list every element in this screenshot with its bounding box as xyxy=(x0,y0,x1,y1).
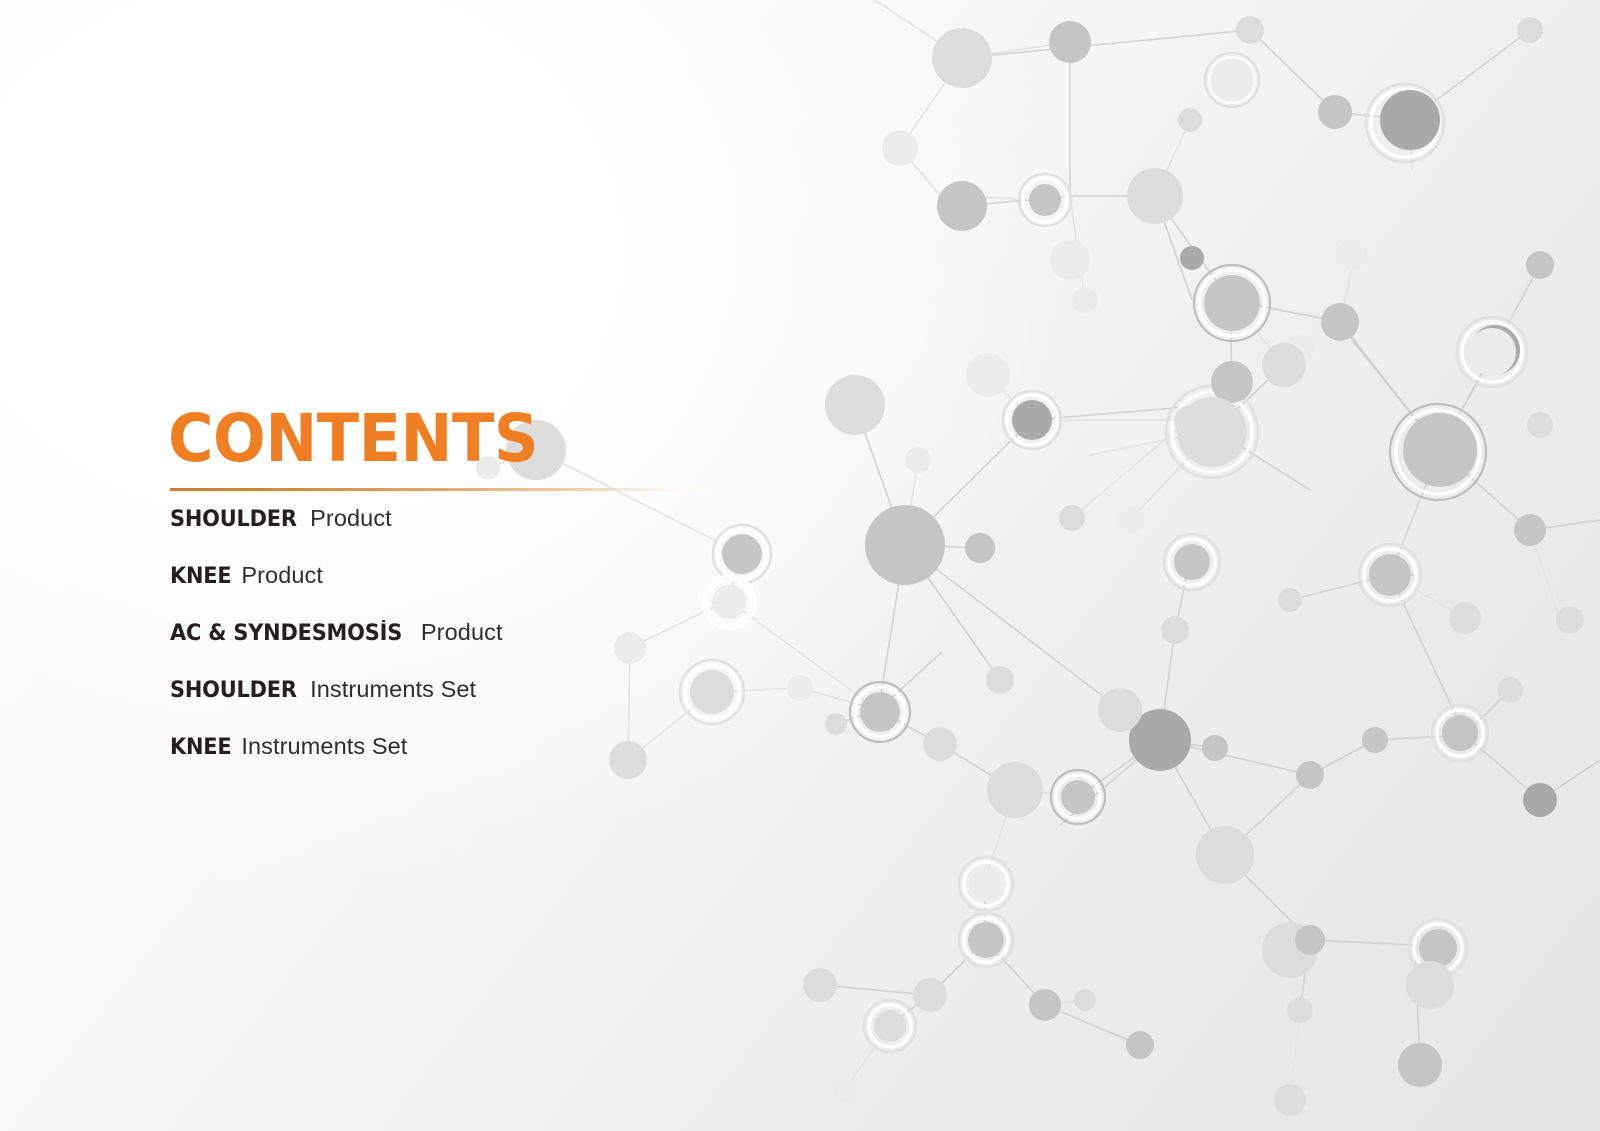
contents-block: CONTENTS SHOULDER Product KNEE Product A… xyxy=(168,408,868,471)
contents-item-strong: SHOULDER xyxy=(170,503,297,537)
contents-item-knee-product[interactable]: KNEE Product xyxy=(170,558,850,615)
contents-item-strong: AC & SYNDESMOSİS xyxy=(170,617,402,651)
contents-item-ac-syndesmosis-product[interactable]: AC & SYNDESMOSİS Product xyxy=(170,615,850,672)
contents-item-rest: Product xyxy=(303,505,391,531)
contents-item-strong: SHOULDER xyxy=(170,674,297,708)
contents-item-rest: Instruments Set xyxy=(235,733,408,759)
contents-item-rest: Instruments Set xyxy=(303,676,476,702)
title-underline-rule xyxy=(170,488,713,491)
contents-item-shoulder-product[interactable]: SHOULDER Product xyxy=(170,501,850,558)
contents-item-knee-instruments-set[interactable]: KNEE Instruments Set xyxy=(170,729,850,786)
contents-list: SHOULDER Product KNEE Product AC & SYNDE… xyxy=(170,501,850,786)
slide-canvas: .ln { stroke:#D2D2D2; stroke-width:1.6; … xyxy=(0,0,1600,1131)
contents-item-strong: KNEE xyxy=(170,731,231,765)
page-title: CONTENTS xyxy=(168,408,826,471)
contents-item-rest: Product xyxy=(414,619,502,645)
contents-item-shoulder-instruments-set[interactable]: SHOULDER Instruments Set xyxy=(170,672,850,729)
contents-item-strong: KNEE xyxy=(170,560,231,594)
contents-item-rest: Product xyxy=(235,562,323,588)
